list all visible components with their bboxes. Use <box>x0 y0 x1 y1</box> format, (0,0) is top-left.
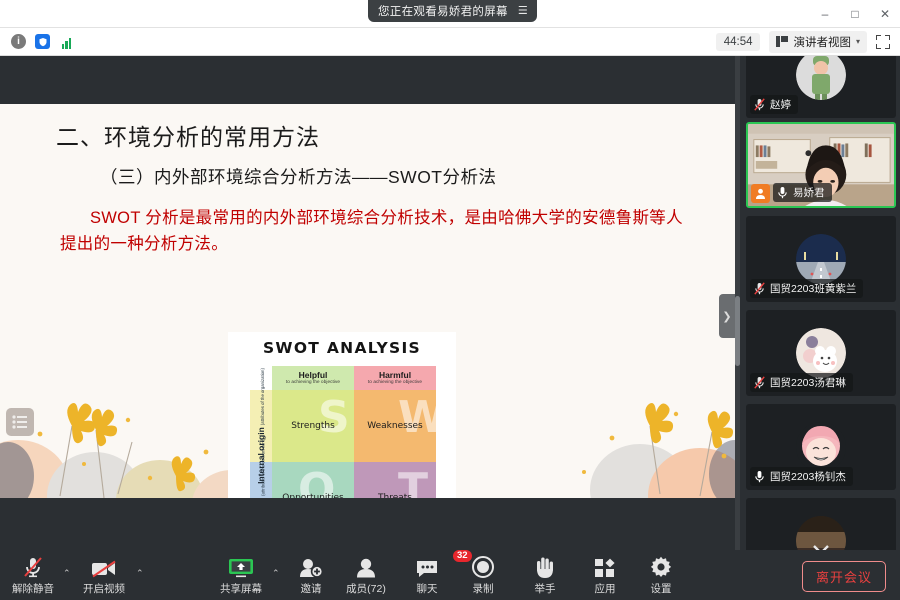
toolbar-settings-button[interactable]: 设置 <box>628 555 694 596</box>
participant-tile[interactable]: 国贸2203汤君琳 <box>746 310 896 396</box>
participant-tile-active[interactable]: 易娇君 <box>746 122 896 208</box>
view-mode-selector[interactable]: 演讲者视图 ▾ <box>769 31 867 53</box>
swot-letter-s: S <box>318 396 350 440</box>
avatar <box>796 234 846 284</box>
mic-muted-icon <box>754 282 765 295</box>
slide-subheading: （三）内外部环境综合分析方法——SWOT分析法 <box>100 164 497 189</box>
swot-label-threats: Threats <box>378 493 412 498</box>
swot-cell-opportunities: O Opportunities <box>272 462 354 498</box>
participant-tile[interactable]: 赵婷 <box>746 56 896 118</box>
title-bar: 您正在观看易娇君的屏幕 ☰ – □ ✕ <box>0 0 900 28</box>
info-bar-right-controls: 44:54 演讲者视图 ▾ <box>716 31 900 53</box>
toolbar-label: 成员(72) <box>346 581 386 596</box>
slide-heading: 二、环境分析的常用方法 <box>56 118 320 152</box>
participant-nametag: 国贸2203班黄紫兰 <box>750 279 863 298</box>
toolbar-label: 应用 <box>595 581 616 596</box>
participant-nametag: 国贸2203杨钊杰 <box>750 467 853 486</box>
list-annotation-icon[interactable] <box>6 408 34 436</box>
toolbar-share-screen-button[interactable]: 共享屏幕 <box>208 555 274 596</box>
mic-options-caret-icon[interactable]: ⌃ <box>63 568 71 579</box>
toolbar-label: 解除静音 <box>12 581 54 596</box>
meeting-toolbar: 解除静音 ⌃ 开启视频 ⌃ 共享屏幕 ⌃ 邀请 成员(7 <box>0 550 900 600</box>
toolbar-label: 开启视频 <box>83 581 125 596</box>
collapse-filmstrip-button[interactable]: ❯ <box>719 294 735 338</box>
info-bar-left-icons: i <box>0 34 74 49</box>
mic-unmuted-icon <box>777 186 788 199</box>
info-icon[interactable]: i <box>11 34 26 49</box>
swot-header-harmful: Harmful to achieving the objective <box>354 366 436 390</box>
maximize-button[interactable]: □ <box>840 0 870 28</box>
record-icon <box>472 555 494 578</box>
avatar <box>796 56 846 100</box>
swot-label-opportunities: Opportunities <box>282 493 343 498</box>
participant-filmstrip[interactable]: 赵婷 <box>742 56 900 550</box>
toolbar-label: 共享屏幕 <box>220 581 262 596</box>
shield-icon[interactable] <box>35 34 50 49</box>
swot-cell-threats: T Threats <box>354 462 436 498</box>
mic-muted-icon <box>22 555 44 578</box>
fullscreen-icon[interactable] <box>876 35 890 49</box>
hamburger-icon[interactable]: ☰ <box>518 6 528 17</box>
participant-name: 国贸2203杨钊杰 <box>770 469 846 484</box>
speaker-view-icon <box>776 36 788 47</box>
swot-label-weaknesses: Weaknesses <box>367 421 422 431</box>
avatar <box>796 516 846 550</box>
toolbar-record-button[interactable]: 录制 <box>450 555 516 596</box>
apps-icon <box>594 555 616 578</box>
participant-name: 易娇君 <box>793 185 825 200</box>
signal-bars-icon[interactable] <box>59 34 74 49</box>
presentation-slide: 二、环境分析的常用方法 （三）内外部环境综合分析方法——SWOT分析法 SWOT… <box>0 104 740 498</box>
view-mode-label: 演讲者视图 <box>793 34 851 50</box>
mic-muted-icon <box>754 98 765 111</box>
participant-tile-partial[interactable] <box>746 498 896 550</box>
swot-cell-weaknesses: W Weaknesses <box>354 390 436 462</box>
swot-header-harmful-subtitle: to achieving the objective <box>368 380 422 385</box>
swot-header-helpful: Helpful to achieving the objective <box>272 366 354 390</box>
shared-screen-stage[interactable]: 二、环境分析的常用方法 （三）内外部环境综合分析方法——SWOT分析法 SWOT… <box>0 56 740 550</box>
slide-body-text: SWOT 分析是最常用的内外部环境综合分析技术，是由哈佛大学的安德鲁斯等人提出的… <box>60 206 690 257</box>
zoom-meeting-window: 您正在观看易娇君的屏幕 ☰ – □ ✕ i 44:54 演讲者视图 ▾ <box>0 0 900 600</box>
toolbar-label: 邀请 <box>301 581 322 596</box>
participant-nametag: 赵婷 <box>750 95 798 114</box>
watching-screen-banner[interactable]: 您正在观看易娇君的屏幕 ☰ <box>368 0 537 22</box>
host-badge-icon <box>751 184 770 203</box>
swot-grid: Helpful to achieving the objective Harmf… <box>250 366 436 498</box>
mic-muted-icon <box>754 376 765 389</box>
toolbar-label: 聊天 <box>417 581 438 596</box>
toolbar-start-video-button[interactable]: 开启视频 <box>71 555 137 596</box>
swot-row-header-external: External origin (attributes of the envir… <box>250 462 272 498</box>
toolbar-label: 举手 <box>535 581 556 596</box>
meeting-info-bar: i 44:54 演讲者视图 ▾ <box>0 28 900 56</box>
chevron-down-icon: ▾ <box>856 37 860 46</box>
participant-nametag: 易娇君 <box>773 183 832 202</box>
watching-screen-label: 您正在观看易娇君的屏幕 <box>378 3 508 19</box>
toolbar-unmute-button[interactable]: 解除静音 <box>0 555 66 596</box>
participant-tile[interactable]: 国贸2203杨钊杰 <box>746 404 896 490</box>
meeting-timer: 44:54 <box>716 33 761 51</box>
video-off-icon <box>91 555 117 578</box>
avatar <box>796 328 846 378</box>
swot-letter-w: W <box>398 396 447 440</box>
close-button[interactable]: ✕ <box>870 0 900 28</box>
participant-tile[interactable]: 国贸2203班黄紫兰 <box>746 216 896 302</box>
participant-nametag: 国贸2203汤君琳 <box>750 373 853 392</box>
chat-icon: 32 <box>415 555 439 578</box>
participant-name: 国贸2203汤君琳 <box>770 375 846 390</box>
swot-label-strengths: Strengths <box>291 421 335 431</box>
swot-external-subtitle: (attributes of the environment) <box>260 439 265 496</box>
leave-meeting-button[interactable]: 离开会议 <box>802 561 886 592</box>
participant-name: 赵婷 <box>770 97 791 112</box>
swot-internal-subtitle: (attributes of the organization) <box>260 368 265 425</box>
video-options-caret-icon[interactable]: ⌃ <box>136 568 144 579</box>
settings-gear-icon <box>650 555 672 578</box>
toolbar-raise-hand-button[interactable]: 举手 <box>512 555 578 596</box>
swot-header-helpful-subtitle: to achieving the objective <box>286 380 340 385</box>
swot-title: SWOT ANALYSIS <box>228 332 456 357</box>
toolbar-label: 录制 <box>473 581 494 596</box>
participants-icon <box>355 555 377 578</box>
avatar <box>796 422 846 472</box>
swot-cell-strengths: S Strengths <box>272 390 354 462</box>
share-screen-icon <box>228 555 254 578</box>
participant-name: 国贸2203班黄紫兰 <box>770 281 856 296</box>
mic-unmuted-icon <box>754 470 765 483</box>
invite-icon <box>299 555 323 578</box>
toolbar-participants-button[interactable]: 成员(72) <box>333 555 399 596</box>
minimize-button[interactable]: – <box>810 0 840 28</box>
filmstrip-scrollbar[interactable] <box>735 56 740 550</box>
swot-analysis-figure: SWOT ANALYSIS Helpful to achieving the o… <box>228 332 456 498</box>
toolbar-label: 设置 <box>651 581 672 596</box>
raise-hand-icon <box>535 555 555 578</box>
